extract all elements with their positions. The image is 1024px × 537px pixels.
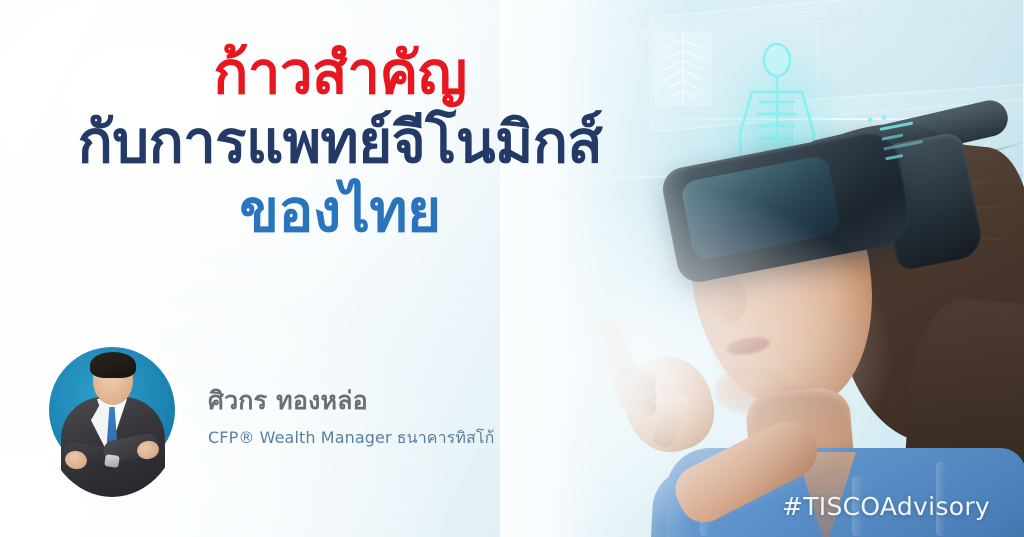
presenter-role: CFP® Wealth Manager ธนาคารทิสโก้	[208, 426, 538, 451]
presenter-block: ศิวกร ทองหล่อ CFP® Wealth Manager ธนาคาร…	[43, 333, 513, 503]
headline-line-2: กับการแพทย์จีโนมิกส์	[0, 113, 680, 172]
presenter-name: ศิวกร ทองหล่อ	[208, 381, 538, 421]
presenter-text: ศิวกร ทองหล่อ CFP® Wealth Manager ธนาคาร…	[208, 381, 538, 451]
headline-line-3: ของไทย	[0, 182, 680, 241]
page-title: ก้าวสำคัญ กับการแพทย์จีโนมิกส์ ของไทย	[0, 44, 680, 241]
promo-banner: ก้าวสำคัญ กับการแพทย์จีโนมิกส์ ของไทย ศิ…	[0, 0, 1024, 537]
headline-line-1: ก้าวสำคัญ	[0, 44, 680, 105]
presenter-portrait-icon	[43, 333, 181, 497]
avatar-hair	[90, 352, 136, 378]
avatar-wristwatch-icon	[104, 454, 120, 468]
hashtag-label: #TISCOAdvisory	[782, 492, 990, 521]
